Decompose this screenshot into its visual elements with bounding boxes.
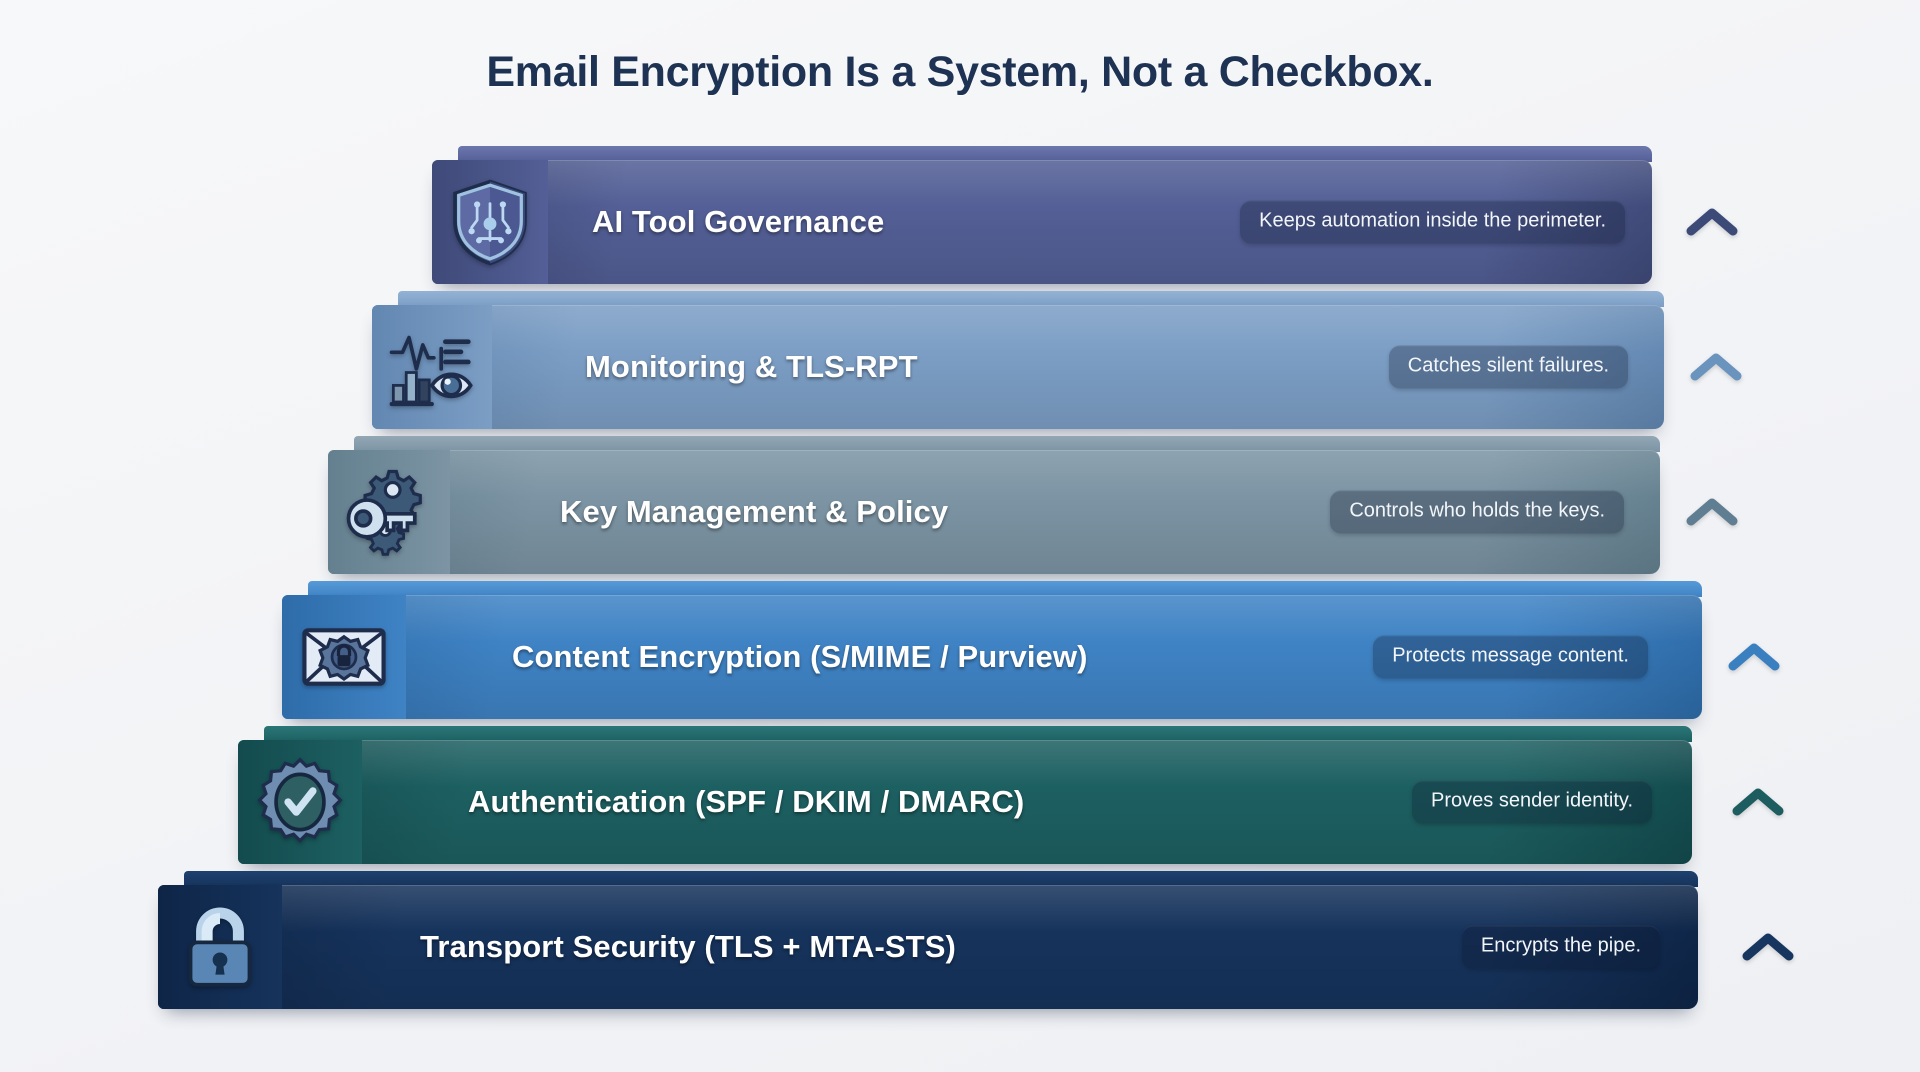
layer-description-badge: Catches silent failures. <box>1389 346 1628 389</box>
pulse-chart-eye-icon <box>372 305 492 429</box>
shield-circuit-icon <box>444 176 536 268</box>
verified-seal-check-icon <box>254 756 346 848</box>
layer-title: Transport Security (TLS + MTA-STS) <box>420 929 956 965</box>
pyramid-layer[interactable]: Authentication (SPF / DKIM / DMARC)Prove… <box>238 740 1692 864</box>
layer-description-badge: Keeps automation inside the perimeter. <box>1240 201 1625 244</box>
key-gears-icon <box>328 450 450 574</box>
layer-description-badge: Protects message content. <box>1373 636 1648 679</box>
infographic-canvas: Email Encryption Is a System, Not a Chec… <box>0 0 1920 1072</box>
layer-description-badge: Controls who holds the keys. <box>1330 491 1624 534</box>
pyramid-layer[interactable]: Key Management & PolicyControls who hold… <box>328 450 1660 574</box>
shield-circuit-icon <box>432 160 548 284</box>
pyramid-layer[interactable]: Content Encryption (S/MIME / Purview)Pro… <box>282 595 1702 719</box>
verified-seal-check-icon <box>238 740 362 864</box>
envelope-seal-lock-icon <box>298 611 390 703</box>
layer-title: Authentication (SPF / DKIM / DMARC) <box>468 784 1024 820</box>
chevron-up-icon[interactable] <box>1690 350 1742 384</box>
layer-description-badge: Proves sender identity. <box>1412 781 1652 824</box>
pulse-chart-eye-icon <box>386 321 478 413</box>
chevron-up-icon[interactable] <box>1686 495 1738 529</box>
layer-title: AI Tool Governance <box>592 204 884 240</box>
pyramid-layer[interactable]: Transport Security (TLS + MTA-STS)Encryp… <box>158 885 1698 1009</box>
pyramid-layer[interactable]: AI Tool GovernanceKeeps automation insid… <box>432 160 1652 284</box>
chevron-up-icon[interactable] <box>1732 785 1784 819</box>
encryption-layer-pyramid: AI Tool GovernanceKeeps automation insid… <box>0 160 1920 1040</box>
layer-description-badge: Encrypts the pipe. <box>1462 926 1660 969</box>
chevron-up-icon[interactable] <box>1728 640 1780 674</box>
chevron-up-icon[interactable] <box>1742 930 1794 964</box>
padlock-icon <box>158 885 282 1009</box>
chevron-up-icon[interactable] <box>1686 205 1738 239</box>
page-title: Email Encryption Is a System, Not a Chec… <box>0 48 1920 97</box>
padlock-icon <box>174 901 266 993</box>
layer-title: Key Management & Policy <box>560 494 948 530</box>
layer-title: Monitoring & TLS-RPT <box>585 349 918 385</box>
key-gears-icon <box>343 466 435 558</box>
layer-title: Content Encryption (S/MIME / Purview) <box>512 639 1088 675</box>
envelope-seal-lock-icon <box>282 595 406 719</box>
pyramid-layer[interactable]: Monitoring & TLS-RPTCatches silent failu… <box>372 305 1664 429</box>
